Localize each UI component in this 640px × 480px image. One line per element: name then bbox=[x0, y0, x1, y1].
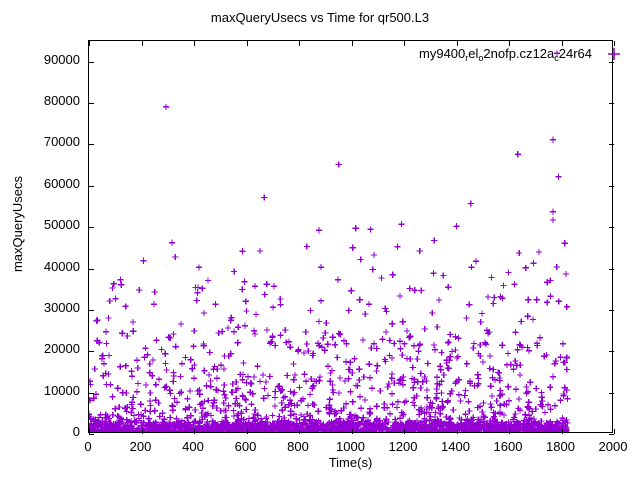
x-tick-mark bbox=[509, 429, 510, 434]
x-tick-mark bbox=[142, 41, 143, 46]
x-tick-label: 0 bbox=[58, 439, 118, 454]
y-tick-mark bbox=[609, 434, 614, 435]
x-tick-mark bbox=[614, 429, 615, 434]
y-tick-label: 70000 bbox=[6, 134, 80, 149]
y-tick-label: 10000 bbox=[6, 383, 80, 398]
y-tick-label: 40000 bbox=[6, 259, 80, 274]
x-tick-label: 1200 bbox=[373, 439, 433, 454]
y-tick-label: 80000 bbox=[6, 93, 80, 108]
y-tick-mark bbox=[609, 269, 614, 270]
x-tick-label: 600 bbox=[216, 439, 276, 454]
x-tick-label: 400 bbox=[163, 439, 223, 454]
y-tick-mark bbox=[89, 62, 94, 63]
y-tick-mark bbox=[609, 227, 614, 228]
y-tick-mark bbox=[89, 434, 94, 435]
x-tick-mark bbox=[247, 41, 248, 46]
plot-area bbox=[88, 40, 613, 433]
x-tick-mark bbox=[299, 429, 300, 434]
x-tick-mark bbox=[247, 429, 248, 434]
y-tick-mark bbox=[89, 269, 94, 270]
x-tick-label: 1000 bbox=[321, 439, 381, 454]
y-tick-mark bbox=[89, 144, 94, 145]
y-tick-label: 0 bbox=[6, 424, 80, 439]
x-tick-mark bbox=[457, 429, 458, 434]
y-tick-label: 60000 bbox=[6, 176, 80, 191]
y-tick-mark bbox=[609, 186, 614, 187]
x-tick-mark bbox=[352, 429, 353, 434]
y-tick-mark bbox=[89, 186, 94, 187]
x-tick-label: 1800 bbox=[531, 439, 591, 454]
legend-marker-plus-icon bbox=[606, 46, 622, 62]
x-tick-label: 200 bbox=[111, 439, 171, 454]
x-tick-mark bbox=[89, 429, 90, 434]
chart-page: maxQueryUsecs vs Time for qr500.L3 maxQu… bbox=[0, 0, 640, 480]
y-tick-mark bbox=[89, 351, 94, 352]
x-tick-mark bbox=[142, 429, 143, 434]
x-tick-mark bbox=[562, 429, 563, 434]
x-tick-mark bbox=[89, 41, 90, 46]
scatter-points bbox=[89, 41, 612, 432]
x-tick-mark bbox=[352, 41, 353, 46]
y-tick-mark bbox=[89, 393, 94, 394]
chart-title: maxQueryUsecs vs Time for qr500.L3 bbox=[0, 10, 640, 25]
y-tick-mark bbox=[89, 310, 94, 311]
y-tick-label: 20000 bbox=[6, 341, 80, 356]
x-tick-label: 1400 bbox=[426, 439, 486, 454]
x-axis-title: Time(s) bbox=[88, 455, 613, 470]
y-tick-mark bbox=[609, 310, 614, 311]
y-tick-mark bbox=[609, 144, 614, 145]
y-tick-mark bbox=[609, 103, 614, 104]
y-tick-label: 90000 bbox=[6, 52, 80, 67]
legend-entry-label: my9400relo2nofp.cz12ac24r64 bbox=[419, 46, 592, 61]
x-tick-mark bbox=[194, 429, 195, 434]
y-tick-mark bbox=[609, 393, 614, 394]
x-tick-mark bbox=[404, 41, 405, 46]
x-tick-mark bbox=[299, 41, 300, 46]
y-tick-label: 50000 bbox=[6, 217, 80, 232]
y-tick-mark bbox=[609, 351, 614, 352]
x-tick-label: 1600 bbox=[478, 439, 538, 454]
x-tick-label: 2000 bbox=[583, 439, 640, 454]
x-tick-mark bbox=[404, 429, 405, 434]
y-tick-label: 30000 bbox=[6, 300, 80, 315]
y-tick-mark bbox=[89, 227, 94, 228]
y-tick-mark bbox=[89, 103, 94, 104]
x-tick-label: 800 bbox=[268, 439, 328, 454]
x-tick-mark bbox=[194, 41, 195, 46]
scatter-marker-group bbox=[89, 50, 571, 432]
